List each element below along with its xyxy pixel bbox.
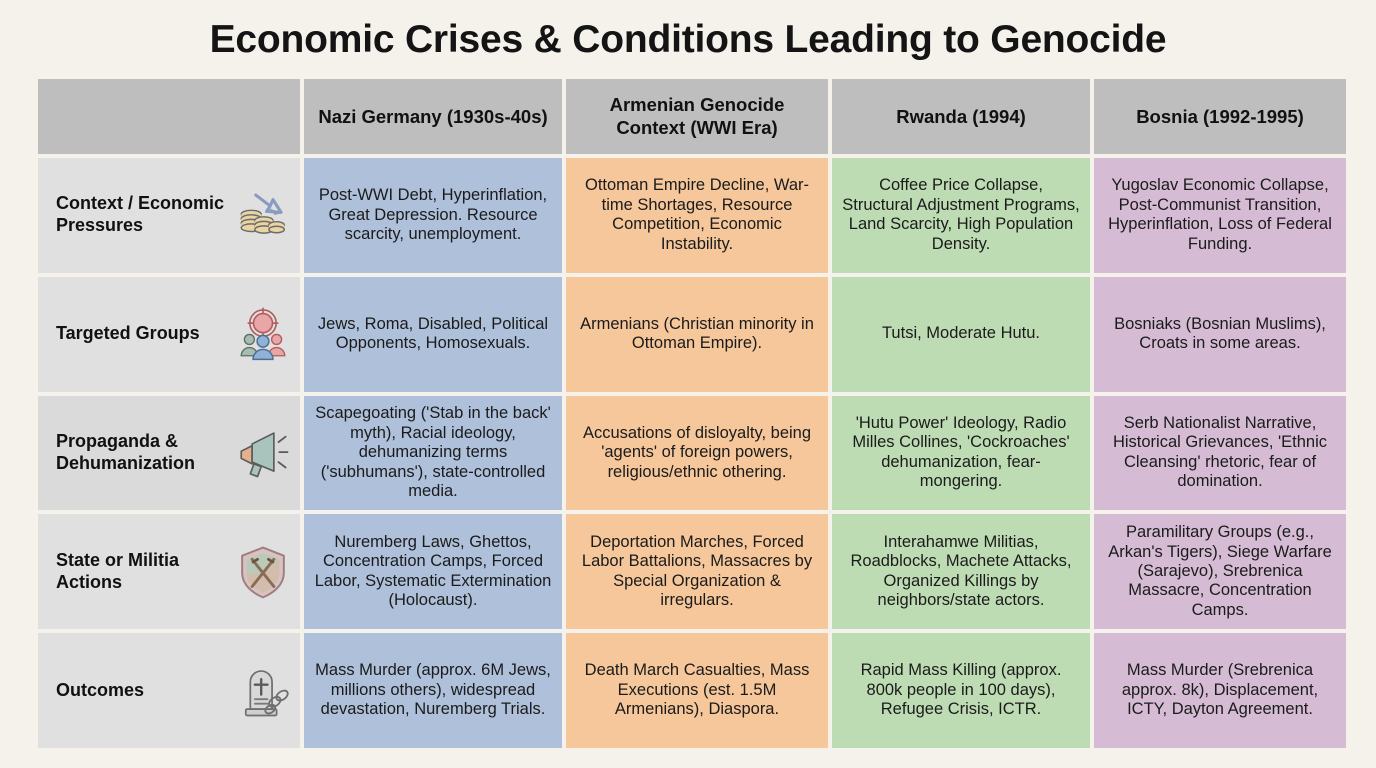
row-label-propaganda-dehumanization: Propaganda & Dehumanization — [38, 396, 300, 511]
cell-targeted-rwanda: Tutsi, Moderate Hutu. — [832, 277, 1090, 392]
row-label-text: Targeted Groups — [56, 323, 228, 345]
gravestone-chains-icon — [234, 662, 292, 720]
table-row: Propaganda & Dehumanization Scapegoating… — [38, 396, 1338, 511]
cell-targeted-bosnia: Bosniaks (Bosnian Muslims), Croats in so… — [1094, 277, 1346, 392]
cell-outcomes-bosnia: Mass Murder (Srebrenica approx. 8k), Dis… — [1094, 633, 1346, 748]
cell-state-actions-nazi-germany: Nuremberg Laws, Ghettos, Concentration C… — [304, 514, 562, 629]
row-label-text: Outcomes — [56, 680, 228, 702]
cell-targeted-nazi-germany: Jews, Roma, Disabled, Political Opponent… — [304, 277, 562, 392]
table-row: State or Militia Actions Nuremberg Laws,… — [38, 514, 1338, 629]
shield-crossed-rifles-icon — [234, 543, 292, 601]
cell-context-armenian: Ottoman Empire Decline, War-time Shortag… — [566, 158, 828, 273]
header-armenian-genocide: Armenian Genocide Context (WWI Era) — [566, 79, 828, 154]
cell-state-actions-armenian: Deportation Marches, Forced Labor Battal… — [566, 514, 828, 629]
table-row: Outcomes Mass Murder (approx. 6M Jews, m… — [38, 633, 1338, 748]
row-label-state-militia-actions: State or Militia Actions — [38, 514, 300, 629]
cell-targeted-armenian: Armenians (Christian minority in Ottoman… — [566, 277, 828, 392]
header-bosnia: Bosnia (1992-1995) — [1094, 79, 1346, 154]
row-label-outcomes: Outcomes — [38, 633, 300, 748]
cell-outcomes-rwanda: Rapid Mass Killing (approx. 800k people … — [832, 633, 1090, 748]
coins-declining-icon — [234, 186, 292, 244]
cell-propaganda-bosnia: Serb Nationalist Narrative, Historical G… — [1094, 396, 1346, 511]
cell-context-nazi-germany: Post-WWI Debt, Hyperinflation, Great Dep… — [304, 158, 562, 273]
row-label-text: State or Militia Actions — [56, 550, 228, 594]
header-rwanda: Rwanda (1994) — [832, 79, 1090, 154]
cell-state-actions-rwanda: Interahamwe Militias, Roadblocks, Machet… — [832, 514, 1090, 629]
page-title: Economic Crises & Conditions Leading to … — [210, 18, 1167, 63]
table-header-row: Nazi Germany (1930s-40s) Armenian Genoci… — [38, 79, 1338, 154]
header-corner-cell — [38, 79, 300, 154]
cell-propaganda-armenian: Accusations of disloyalty, being 'agents… — [566, 396, 828, 511]
table-row: Context / Economic Pressures — [38, 158, 1338, 273]
cell-context-rwanda: Coffee Price Collapse, Structural Adjust… — [832, 158, 1090, 273]
cell-state-actions-bosnia: Paramilitary Groups (e.g., Arkan's Tiger… — [1094, 514, 1346, 629]
row-label-text: Propaganda & Dehumanization — [56, 431, 228, 475]
header-nazi-germany: Nazi Germany (1930s-40s) — [304, 79, 562, 154]
cell-outcomes-nazi-germany: Mass Murder (approx. 6M Jews, millions o… — [304, 633, 562, 748]
comparison-table: Nazi Germany (1930s-40s) Armenian Genoci… — [38, 79, 1338, 748]
row-label-context-economic-pressures: Context / Economic Pressures — [38, 158, 300, 273]
row-label-text: Context / Economic Pressures — [56, 193, 228, 237]
cell-propaganda-nazi-germany: Scapegoating ('Stab in the back' myth), … — [304, 396, 562, 511]
people-target-icon — [234, 305, 292, 363]
comparison-table-page: Economic Crises & Conditions Leading to … — [0, 0, 1376, 768]
table-row: Targeted Groups Jews, Roma, Disabled, — [38, 277, 1338, 392]
cell-context-bosnia: Yugoslav Economic Collapse, Post-Communi… — [1094, 158, 1346, 273]
cell-propaganda-rwanda: 'Hutu Power' Ideology, Radio Milles Coll… — [832, 396, 1090, 511]
cell-outcomes-armenian: Death March Casualties, Mass Executions … — [566, 633, 828, 748]
megaphone-icon — [234, 424, 292, 482]
row-label-targeted-groups: Targeted Groups — [38, 277, 300, 392]
